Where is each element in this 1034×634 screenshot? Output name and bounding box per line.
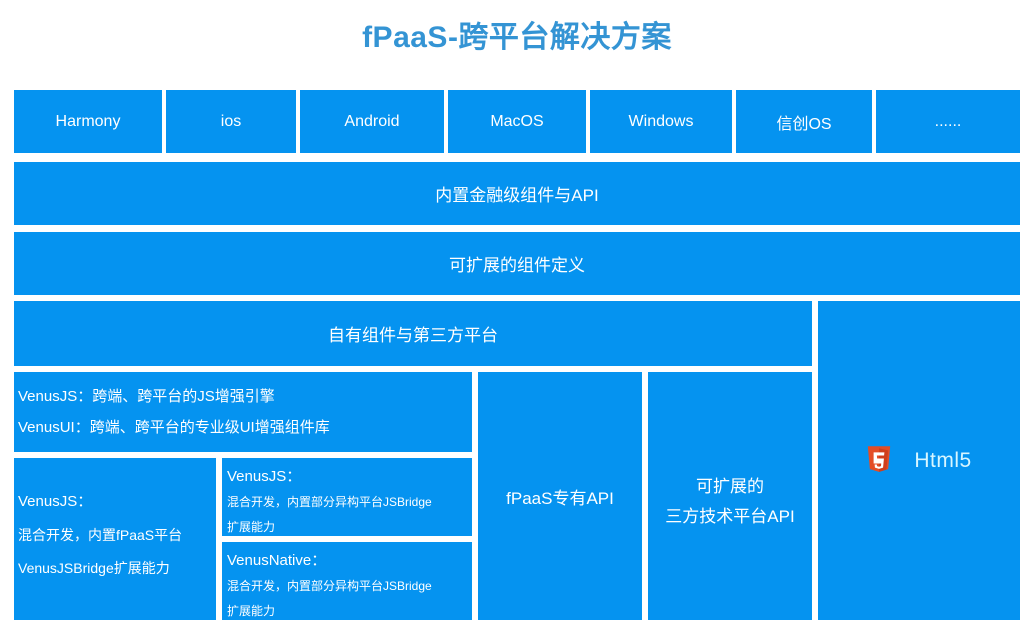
block-line-2: 三方技术平台API [648,502,812,532]
venusnative-heterogeneous-block[interactable]: VenusNative： 混合开发，内置部分异构平台JSBridge 扩展能力 [222,542,472,620]
venusjs-description: VenusJS：跨端、跨平台的JS增强引擎 [18,381,472,412]
block-line-1: 可扩展的 [648,472,812,502]
block-line-2: 扩展能力 [227,515,472,536]
banner-label: 自有组件与第三方平台 [328,321,498,346]
platform-tile-windows[interactable]: Windows [590,90,732,153]
platform-tile-macos[interactable]: MacOS [448,90,586,153]
banner-builtin-financial-api[interactable]: 内置金融级组件与API [14,162,1020,225]
platform-tile-label: ...... [935,113,962,131]
block-line-1: 混合开发，内置部分异构平台JSBridge [227,574,472,599]
platform-tile-xinchuang-os[interactable]: 信创OS [736,90,872,153]
platform-tile-more[interactable]: ...... [876,90,1020,153]
block-label: fPaaS专有API [506,484,614,509]
banner-label: 可扩展的组件定义 [449,251,585,276]
platform-tile-android[interactable]: Android [300,90,444,153]
platform-tile-label: Windows [629,113,694,131]
platform-tile-label: Android [344,113,399,131]
diagram-canvas: fPaaS-跨平台解决方案 Harmony ios Android MacOS … [0,0,1034,634]
third-party-platform-api-block[interactable]: 可扩展的 三方技术平台API [648,372,812,620]
banner-own-components-third-party[interactable]: 自有组件与第三方平台 [14,301,812,366]
venusjs-heterogeneous-block[interactable]: VenusJS： 混合开发，内置部分异构平台JSBridge 扩展能力 [222,458,472,536]
venusui-description: VenusUI：跨端、跨平台的专业级UI增强组件库 [18,412,472,443]
block-line-1: 混合开发，内置fPaaS平台 [18,519,216,552]
fpaas-exclusive-api-block[interactable]: fPaaS专有API [478,372,642,620]
venus-description-block[interactable]: VenusJS：跨端、跨平台的JS增强引擎 VenusUI：跨端、跨平台的专业级… [14,372,472,452]
platform-tile-ios[interactable]: ios [166,90,296,153]
html5-logo-group: Html5 [866,446,971,476]
platform-tile-label: MacOS [490,113,543,131]
banner-extensible-component-definition[interactable]: 可扩展的组件定义 [14,232,1020,295]
block-line-1: 混合开发，内置部分异构平台JSBridge [227,490,472,515]
platform-tile-label: Harmony [56,113,121,131]
html5-label: Html5 [914,449,971,473]
html5-block[interactable]: Html5 [818,301,1020,620]
block-heading: VenusJS： [227,464,472,490]
page-title: fPaaS-跨平台解决方案 [0,16,1034,60]
platform-tile-label: 信创OS [776,110,831,134]
block-heading: VenusNative： [227,548,472,574]
block-line-2: 扩展能力 [227,599,472,620]
venusjs-hybrid-fpaas-block[interactable]: VenusJS： 混合开发，内置fPaaS平台 VenusJSBridge扩展能… [14,458,216,620]
banner-label: 内置金融级组件与API [435,181,598,206]
html5-shield-icon [866,446,892,476]
platform-tile-harmony[interactable]: Harmony [14,90,162,153]
block-heading: VenusJS： [18,484,216,519]
block-line-2: VenusJSBridge扩展能力 [18,552,216,585]
platform-tile-label: ios [221,113,241,131]
